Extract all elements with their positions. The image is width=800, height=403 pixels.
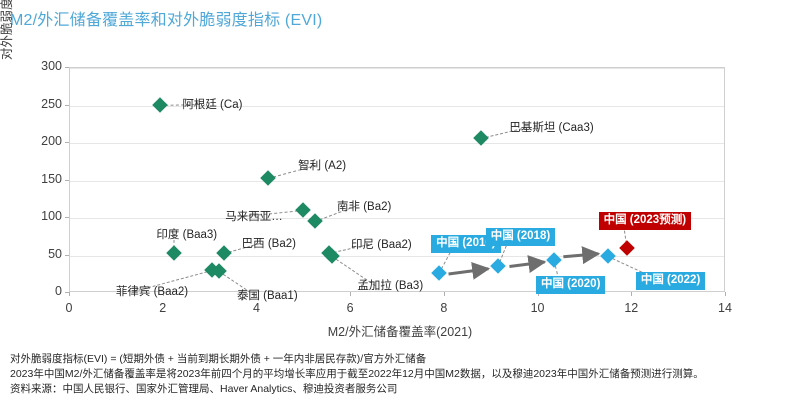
country-point-label: 泰国 (Baa1) (237, 287, 298, 303)
country-point-label: 菲律宾 (Baa2) (116, 283, 188, 299)
footnote-line-3: 资料来源：中国人民银行、国家外汇管理局、Haver Analytics、穆迪投资… (10, 382, 800, 397)
y-axis-title: 对外脆弱度指标(2023年预测) (0, 0, 15, 60)
country-point-label: 巴西 (Ba2) (242, 235, 296, 251)
x-tick-mark (444, 292, 445, 296)
y-tick-label: 0 (10, 284, 62, 298)
country-point-label: 巴基斯坦 (Caa3) (509, 119, 593, 135)
x-tick-label: 2 (148, 301, 178, 315)
gridline (70, 68, 724, 69)
country-point-label: 马来西亚… (225, 208, 283, 224)
china-point-badge: 中国 (2022) (636, 272, 705, 290)
plot-area (69, 67, 725, 292)
country-point-label: 孟加拉 (Ba3) (357, 277, 423, 293)
china-point-badge: 中国 (2018) (486, 228, 555, 246)
x-tick-label: 8 (429, 301, 459, 315)
footnote-line-2: 2023年中国M2/外汇储备覆盖率是将2023年前四个月的平均增长率应用于截至2… (10, 367, 800, 382)
x-tick-mark (631, 292, 632, 296)
y-tick-label: 250 (10, 97, 62, 111)
y-tick-label: 100 (10, 209, 62, 223)
x-tick-mark (350, 292, 351, 296)
y-tick-label: 150 (10, 172, 62, 186)
x-axis-title: M2/外汇储备覆盖率(2021) (0, 321, 800, 340)
china-point-badge: 中国 (2020) (536, 276, 605, 294)
chart-root: M2/外汇储备覆盖率和对外脆弱度指标 (EVI) 对外脆弱度指标(2023年预测… (0, 0, 800, 403)
x-tick-label: 4 (241, 301, 271, 315)
x-tick-mark (725, 292, 726, 296)
x-tick-label: 14 (710, 301, 740, 315)
page-title: M2/外汇储备覆盖率和对外脆弱度指标 (EVI) (10, 6, 322, 30)
x-tick-label: 10 (523, 301, 553, 315)
y-tick-label: 50 (10, 247, 62, 261)
y-tick-label: 200 (10, 134, 62, 148)
gridline (70, 143, 724, 144)
country-point-label: 印度 (Baa3) (156, 226, 217, 242)
x-tick-label: 6 (335, 301, 365, 315)
x-tick-label: 0 (54, 301, 84, 315)
footnotes: 对外脆弱度指标(EVI) = (短期外债 + 当前到期长期外债 + 一年内非居民… (10, 352, 800, 397)
country-point-label: 南非 (Ba2) (337, 198, 391, 214)
footnote-line-1: 对外脆弱度指标(EVI) = (短期外债 + 当前到期长期外债 + 一年内非居民… (10, 352, 800, 367)
country-point-label: 智利 (A2) (298, 157, 346, 173)
y-tick-label: 300 (10, 59, 62, 73)
country-point-label: 印尼 (Baa2) (351, 236, 412, 252)
country-point-label: 阿根廷 (Ca) (182, 96, 242, 112)
x-tick-mark (69, 292, 70, 296)
china-point-badge: 中国 (2023预测) (599, 212, 691, 230)
gridline (70, 181, 724, 182)
x-tick-label: 12 (616, 301, 646, 315)
